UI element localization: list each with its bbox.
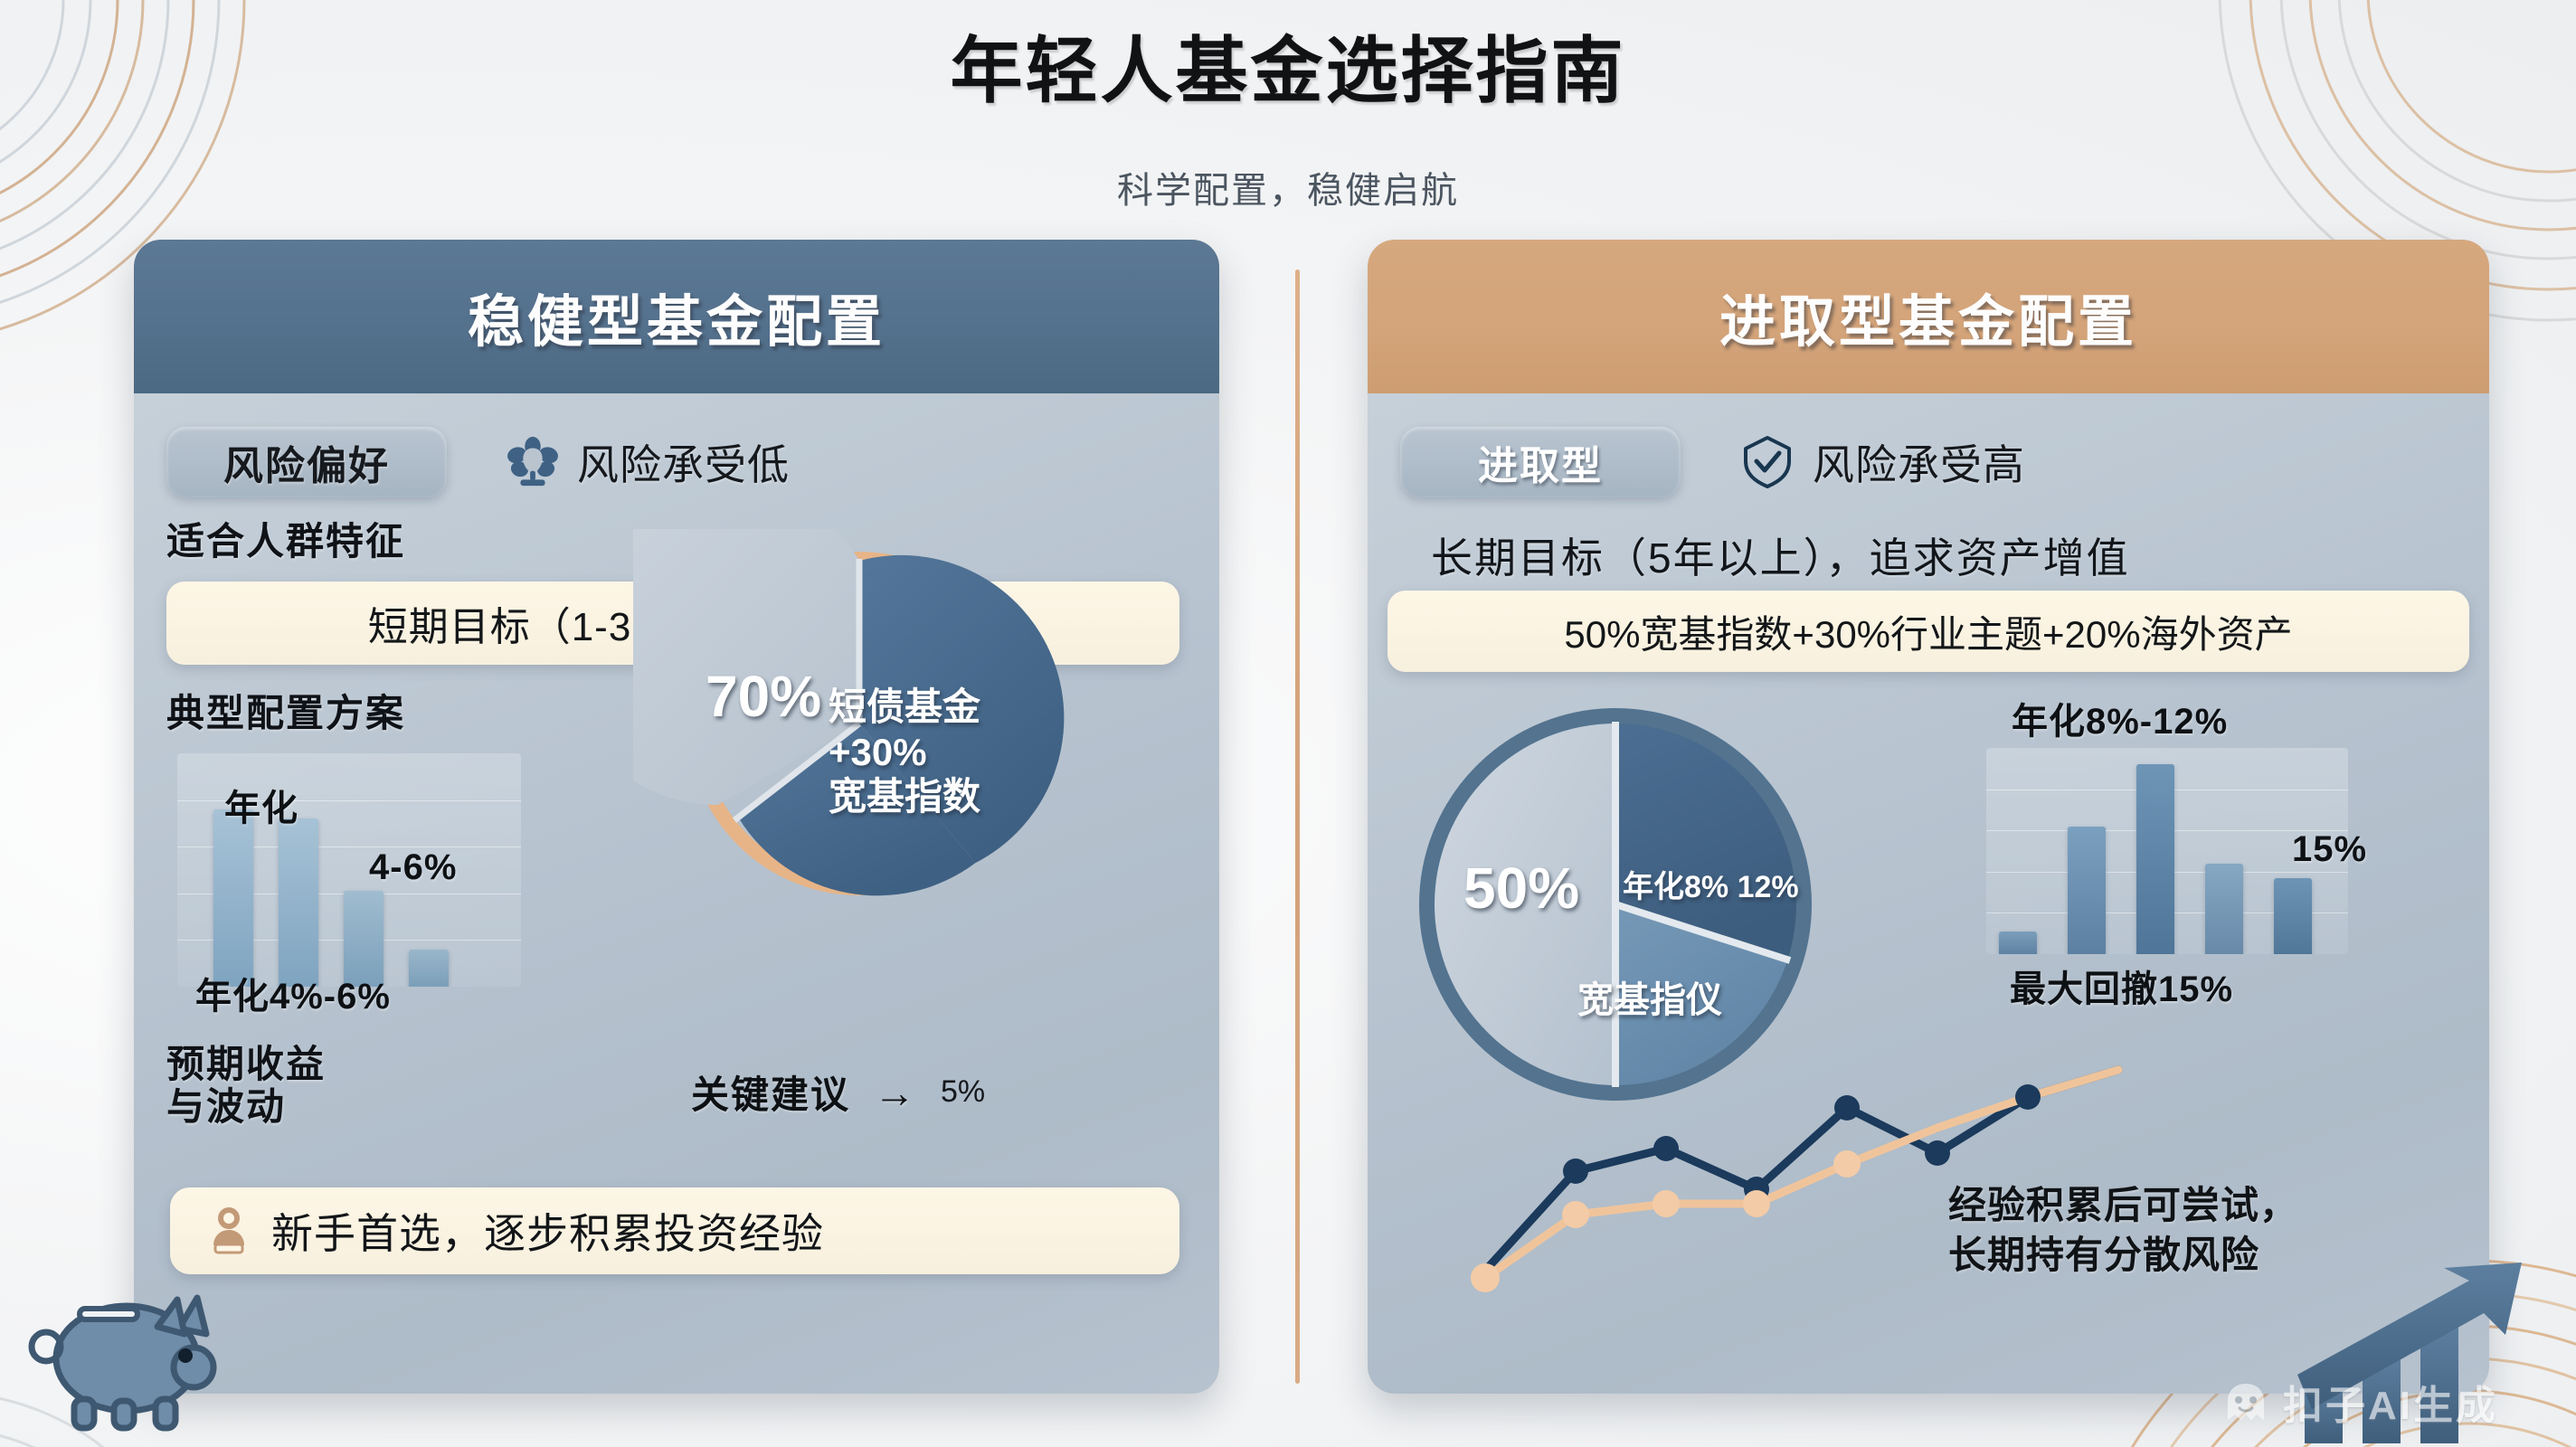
coze-ghost-icon xyxy=(2221,1380,2270,1423)
steady-pie-slice-line3: 宽基指数 xyxy=(829,774,980,819)
panel-divider xyxy=(1295,270,1300,1384)
aggressive-pie-label-1: 年化8% 12% xyxy=(1623,869,1799,905)
panel-aggressive-body: 进取型 风险承受高 长期目标（5年以上），追求资产增值 50%宽基指数+30%行… xyxy=(1368,393,2489,1394)
steady-bar-xlabel: 年化4%-6% xyxy=(195,967,391,1019)
panel-steady-header: 稳健型基金配置 xyxy=(134,240,1219,393)
steady-key-advice-label: 关键建议 xyxy=(691,1064,850,1120)
steady-risk-tag: 风险承受低 xyxy=(505,432,790,492)
steady-bar-annotation-0: 年化 xyxy=(224,779,298,831)
aggressive-pie-label-0: 50% xyxy=(1463,855,1579,923)
aggressive-bar-title: 年化8%-12% xyxy=(2012,692,2228,744)
steady-return-label: 预期收益 与波动 xyxy=(166,1043,326,1128)
watermark-text: 扣子AI生成 xyxy=(2283,1373,2498,1431)
aggressive-closing-note: 经验积累后可尝试， 长期持有分散风险 xyxy=(1948,1180,2298,1281)
steady-pie-slice-line1: 短债基金 xyxy=(829,685,980,730)
aggressive-bar-annotation-0: 15% xyxy=(2292,829,2367,870)
aggressive-bar-xlabel: 最大回撤15% xyxy=(2010,960,2233,1012)
panel-aggressive-title: 进取型基金配置 xyxy=(1719,276,2137,357)
steady-pie-slice-label: 短债基金 +30% 宽基指数 xyxy=(829,685,980,819)
panel-aggressive[interactable]: 进取型基金配置 进取型 风险承受高 长期目标（5年以上），追求资产增值 50%宽… xyxy=(1368,240,2489,1394)
piggy-bank-icon xyxy=(20,1272,228,1440)
panel-aggressive-header: 进取型基金配置 xyxy=(1368,240,2489,393)
steady-key-advice: 关键建议 → 5% xyxy=(691,1064,985,1120)
aggressive-risk-text: 风险承受高 xyxy=(1813,432,2025,492)
steady-pie-center-label: 70% xyxy=(706,663,821,732)
page-title: 年轻人基金选择指南 xyxy=(0,13,2576,118)
aggressive-bar-chart: 年化8%-12% 15% 最大回撤15% xyxy=(1965,692,2435,1026)
steady-key-advice-value: 5% xyxy=(941,1074,985,1110)
aggressive-pie-label-2: 宽基指仪 xyxy=(1577,979,1722,1022)
panel-steady[interactable]: 稳健型基金配置 风险偏好 xyxy=(134,240,1219,1394)
infographic-canvas: 年轻人基金选择指南 科学配置，稳健启航 稳健型基金配置 风险偏好 xyxy=(0,0,2576,1447)
arrow-right-icon: → xyxy=(874,1068,917,1117)
steady-risk-badge[interactable]: 风险偏好 xyxy=(166,427,447,497)
steady-advice-text: 新手首选，逐步积累投资经验 xyxy=(271,1201,824,1261)
steady-risk-text: 风险承受低 xyxy=(577,432,790,492)
steady-pie-slice-line2: +30% xyxy=(829,730,980,775)
watermark: 扣子AI生成 xyxy=(2221,1373,2498,1431)
steady-profile-label: 适合人群特征 xyxy=(166,520,405,563)
aggressive-allocation-text: 50%宽基指数+30%行业主题+20%海外资产 xyxy=(1564,604,2292,659)
shield-protection-icon xyxy=(505,434,561,490)
steady-badge-row: 风险偏好 风险承 xyxy=(166,424,1187,500)
steady-risk-badge-label: 风险偏好 xyxy=(223,433,390,491)
aggressive-type-badge[interactable]: 进取型 xyxy=(1400,427,1681,497)
aggressive-risk-tag: 风险承受高 xyxy=(1738,432,2025,492)
panel-steady-title: 稳健型基金配置 xyxy=(468,276,885,357)
aggressive-goal-text: 长期目标（5年以上），追求资产增值 xyxy=(1431,525,2130,585)
shield-check-icon xyxy=(1738,433,1796,491)
steady-allocation-label: 典型配置方案 xyxy=(166,692,405,734)
aggressive-type-badge-label: 进取型 xyxy=(1478,433,1603,491)
panel-steady-body: 风险偏好 风险承 xyxy=(134,393,1219,1394)
person-badge-icon xyxy=(206,1205,251,1257)
steady-advice-bar: 新手首选，逐步积累投资经验 xyxy=(170,1187,1179,1274)
aggressive-badge-row: 进取型 风险承受高 xyxy=(1400,424,2457,500)
page-subtitle: 科学配置，稳健启航 xyxy=(0,161,2576,213)
steady-bar-annotation-1: 4-6% xyxy=(369,847,457,888)
steady-bar-chart: 年化 4-6% 年化4%-6% xyxy=(177,753,557,1025)
steady-pie-chart: 70% 短债基金 +30% 宽基指数 xyxy=(633,529,1085,927)
aggressive-allocation-bar: 50%宽基指数+30%行业主题+20%海外资产 xyxy=(1387,591,2469,672)
